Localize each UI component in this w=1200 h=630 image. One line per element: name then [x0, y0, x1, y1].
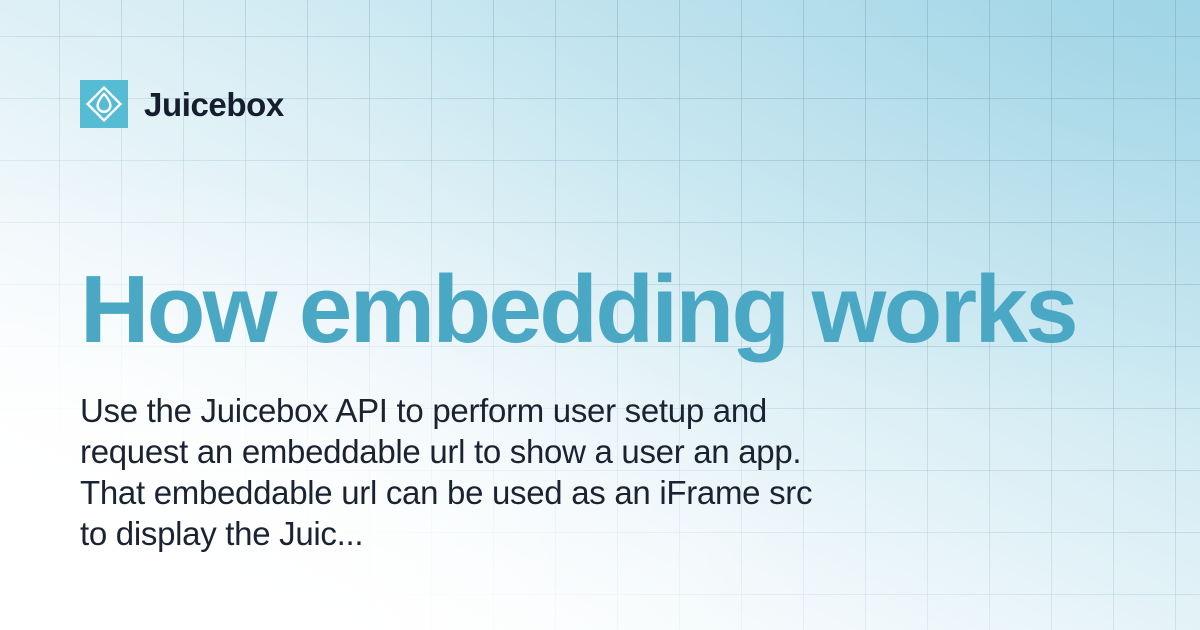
page-description: Use the Juicebox API to perform user set… — [80, 390, 910, 554]
og-card: Juicebox How embedding works Use the Jui… — [0, 0, 1200, 630]
card-content: Juicebox How embedding works Use the Jui… — [0, 0, 1200, 630]
brand-name: Juicebox — [144, 88, 284, 121]
brand-lockup: Juicebox — [80, 80, 284, 128]
juicebox-droplet-diamond-logo-icon — [80, 80, 128, 128]
page-title: How embedding works — [80, 262, 1076, 358]
